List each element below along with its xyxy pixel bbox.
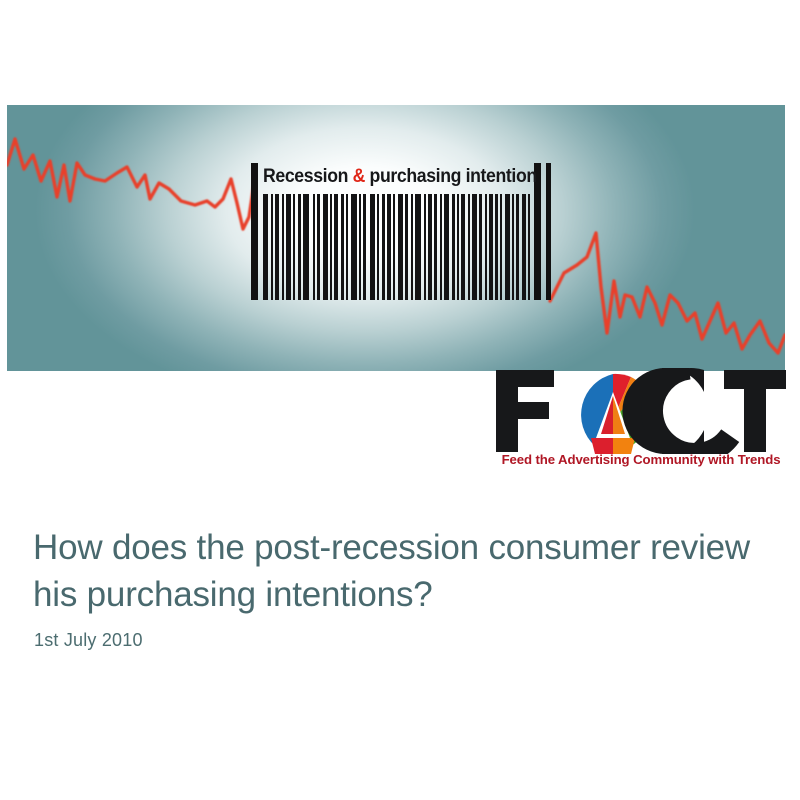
barcode-bar (434, 194, 437, 300)
barcode-bar (505, 194, 510, 300)
barcode-bar (528, 194, 530, 300)
barcode-bar (370, 194, 375, 300)
barcode-bar (377, 194, 379, 300)
barcode-guard-bar-right-inner (546, 163, 551, 300)
slide-title: How does the post-recession consumer rev… (33, 524, 763, 618)
barcode-bar (298, 194, 301, 300)
logo-letter-f (496, 370, 554, 452)
fact-logo: Feed the Advertising Community with Tren… (492, 368, 788, 480)
barcode-bar (522, 194, 526, 300)
barcode-bar (286, 194, 291, 300)
barcode-bar (330, 194, 332, 300)
barcode-bar (444, 194, 449, 300)
presentation-title-slide: Recession & purchasing intention (0, 0, 800, 800)
barcode-bar (341, 194, 344, 300)
barcode-bar (461, 194, 465, 300)
barcode-bar (393, 194, 395, 300)
slide-date: 1st July 2010 (34, 630, 143, 651)
barcode-bar (382, 194, 385, 300)
barcode-bars (263, 194, 531, 300)
barcode-bar (293, 194, 295, 300)
barcode-bar (415, 194, 421, 300)
barcode-bar (472, 194, 477, 300)
barcode-bar (351, 194, 357, 300)
barcode-bar (489, 194, 493, 300)
barcode-bar (359, 194, 361, 300)
barcode-bar (398, 194, 403, 300)
barcode-bar (282, 194, 284, 300)
barcode-bar (457, 194, 459, 300)
barcode-bar (500, 194, 502, 300)
barcode-graphic: Recession & purchasing intention (246, 163, 553, 300)
barcode-bar (323, 194, 328, 300)
barcode-bar (411, 194, 413, 300)
fact-logo-tagline: Feed the Advertising Community with Tren… (494, 452, 788, 467)
chart-line-right (550, 233, 785, 353)
barcode-bar (275, 194, 279, 300)
barcode-caption-suffix: purchasing intention (365, 166, 537, 187)
barcode-bar (495, 194, 498, 300)
barcode-bar (271, 194, 273, 300)
barcode-bar (428, 194, 432, 300)
barcode-bar (313, 194, 315, 300)
recession-banner-image: Recession & purchasing intention (7, 105, 785, 371)
chart-line-left (7, 139, 255, 229)
barcode-guard-bar-left (251, 163, 258, 300)
barcode-bar (346, 194, 348, 300)
fact-wordmark-icon (492, 368, 788, 454)
barcode-bar (334, 194, 338, 300)
barcode-bar (479, 194, 482, 300)
barcode-caption-ampersand: & (353, 166, 365, 187)
barcode-bar (440, 194, 442, 300)
barcode-bar (485, 194, 487, 300)
barcode-caption-prefix: Recession (263, 166, 353, 187)
barcode-caption: Recession & purchasing intention (263, 163, 512, 191)
barcode-bar (405, 194, 408, 300)
barcode-bar (452, 194, 455, 300)
barcode-bar (424, 194, 426, 300)
barcode-bar (516, 194, 519, 300)
barcode-bar (468, 194, 470, 300)
barcode-bar (303, 194, 309, 300)
barcode-bar (363, 194, 366, 300)
barcode-bar (263, 194, 268, 300)
barcode-bar (512, 194, 514, 300)
barcode-bar (317, 194, 320, 300)
barcode-bar (387, 194, 391, 300)
